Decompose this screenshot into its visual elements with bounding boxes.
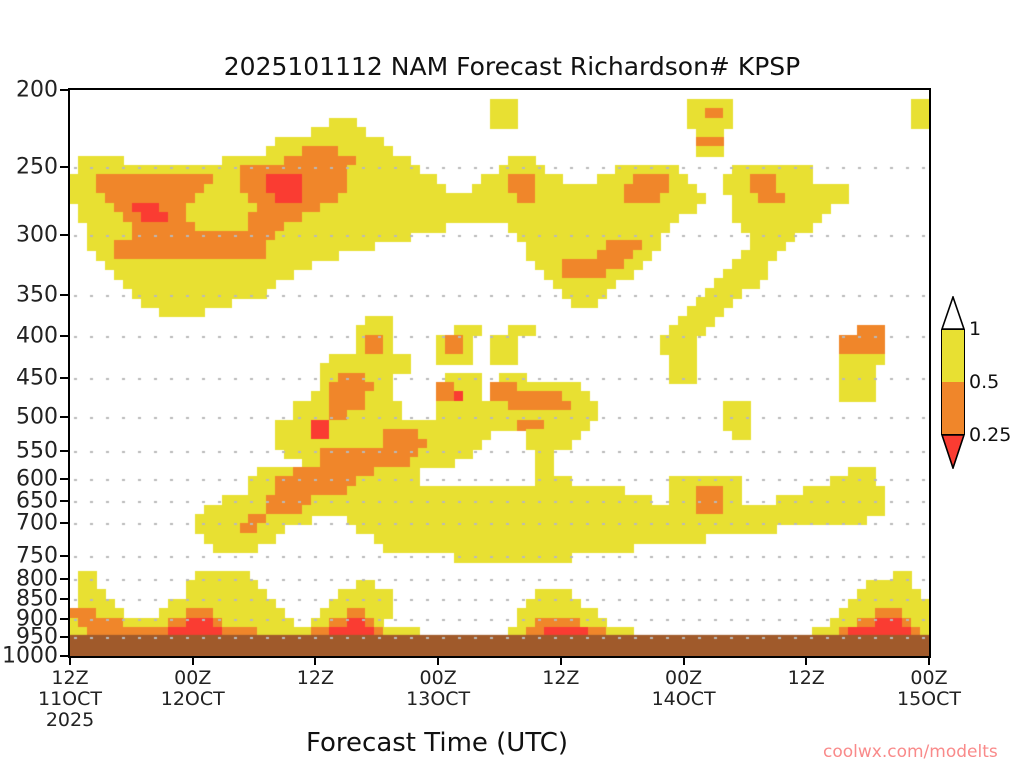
x-tick-date: 13OCT: [406, 689, 470, 710]
y-tick-mark: [60, 89, 68, 91]
x-tick-label-2: 12Z: [297, 668, 334, 689]
x-tick-time: 12Z: [297, 668, 334, 689]
y-tick-label-250: 250: [16, 155, 58, 180]
y-tick-label-500: 500: [16, 404, 58, 429]
y-tick-mark: [60, 555, 68, 557]
x-tick-label-1: 00Z12OCT: [161, 668, 225, 710]
x-axis-title-text: Forecast Time (UTC): [306, 728, 718, 758]
y-tick-mark: [60, 636, 68, 638]
y-tick-label-300: 300: [16, 222, 58, 247]
x-tick-time: 00Z: [406, 668, 470, 689]
y-tick-mark: [60, 500, 68, 502]
x-tick-mark: [928, 658, 930, 665]
y-tick-mark: [60, 522, 68, 524]
colorbar-label-1: 1: [969, 318, 981, 340]
x-tick-label-5: 00Z14OCT: [652, 668, 716, 710]
y-tick-label-200: 200: [16, 78, 58, 103]
plot-area: [68, 88, 931, 658]
y-tick-mark: [60, 166, 68, 168]
y-axis: 2002503003504004505005506006507007508008…: [0, 0, 58, 768]
y-tick-mark: [60, 598, 68, 600]
richardson-heatmap-canvas: [70, 90, 929, 656]
colorbar-legend: 1 0.5 0.25: [941, 296, 965, 468]
x-tick-date: 12OCT: [161, 689, 225, 710]
colorbar-below-min-arrow: [941, 434, 965, 469]
x-tick-mark: [192, 658, 194, 665]
colorbar-label-0p5: 0.5: [969, 371, 999, 393]
y-tick-label-450: 450: [16, 365, 58, 390]
x-tick-mark: [805, 658, 807, 665]
watermark: coolwx.com/modelts: [823, 742, 998, 762]
x-tick-mark: [437, 658, 439, 665]
y-tick-mark: [60, 294, 68, 296]
y-tick-label-700: 700: [16, 510, 58, 535]
y-tick-label-400: 400: [16, 324, 58, 349]
y-tick-label-750: 750: [16, 543, 58, 568]
x-tick-time: 12Z: [542, 668, 579, 689]
x-tick-date: 14OCT: [652, 689, 716, 710]
y-tick-mark: [60, 618, 68, 620]
y-tick-label-350: 350: [16, 282, 58, 307]
x-tick-mark: [560, 658, 562, 665]
colorbar-label-0p25: 0.25: [969, 424, 1011, 446]
y-tick-label-1000: 1000: [2, 644, 58, 669]
y-tick-mark: [60, 450, 68, 452]
y-tick-mark: [60, 234, 68, 236]
page-title: 2025101112 NAM Forecast Richardson# KPSP: [0, 52, 1024, 81]
y-tick-mark: [60, 416, 68, 418]
x-tick-time: 00Z: [897, 668, 961, 689]
y-tick-mark: [60, 335, 68, 337]
y-tick-mark: [60, 377, 68, 379]
x-tick-mark: [683, 658, 685, 665]
x-tick-label-6: 12Z: [788, 668, 825, 689]
colorbar-segment-orange: [942, 382, 964, 434]
colorbar-body: [941, 329, 965, 435]
x-tick-mark: [314, 658, 316, 665]
x-tick-date: 15OCT: [897, 689, 961, 710]
y-tick-mark: [60, 578, 68, 580]
x-tick-time: 00Z: [161, 668, 225, 689]
x-tick-time: 00Z: [652, 668, 716, 689]
x-tick-label-4: 12Z: [542, 668, 579, 689]
colorbar-top-outline: [941, 296, 965, 330]
x-tick-time: 12Z: [788, 668, 825, 689]
x-tick-label-3: 00Z13OCT: [406, 668, 470, 710]
colorbar-segment-yellow: [942, 330, 964, 382]
x-tick-label-7: 00Z15OCT: [897, 668, 961, 710]
x-tick-mark: [69, 658, 71, 665]
y-tick-mark: [60, 478, 68, 480]
y-tick-mark: [60, 655, 68, 657]
y-tick-label-550: 550: [16, 439, 58, 464]
